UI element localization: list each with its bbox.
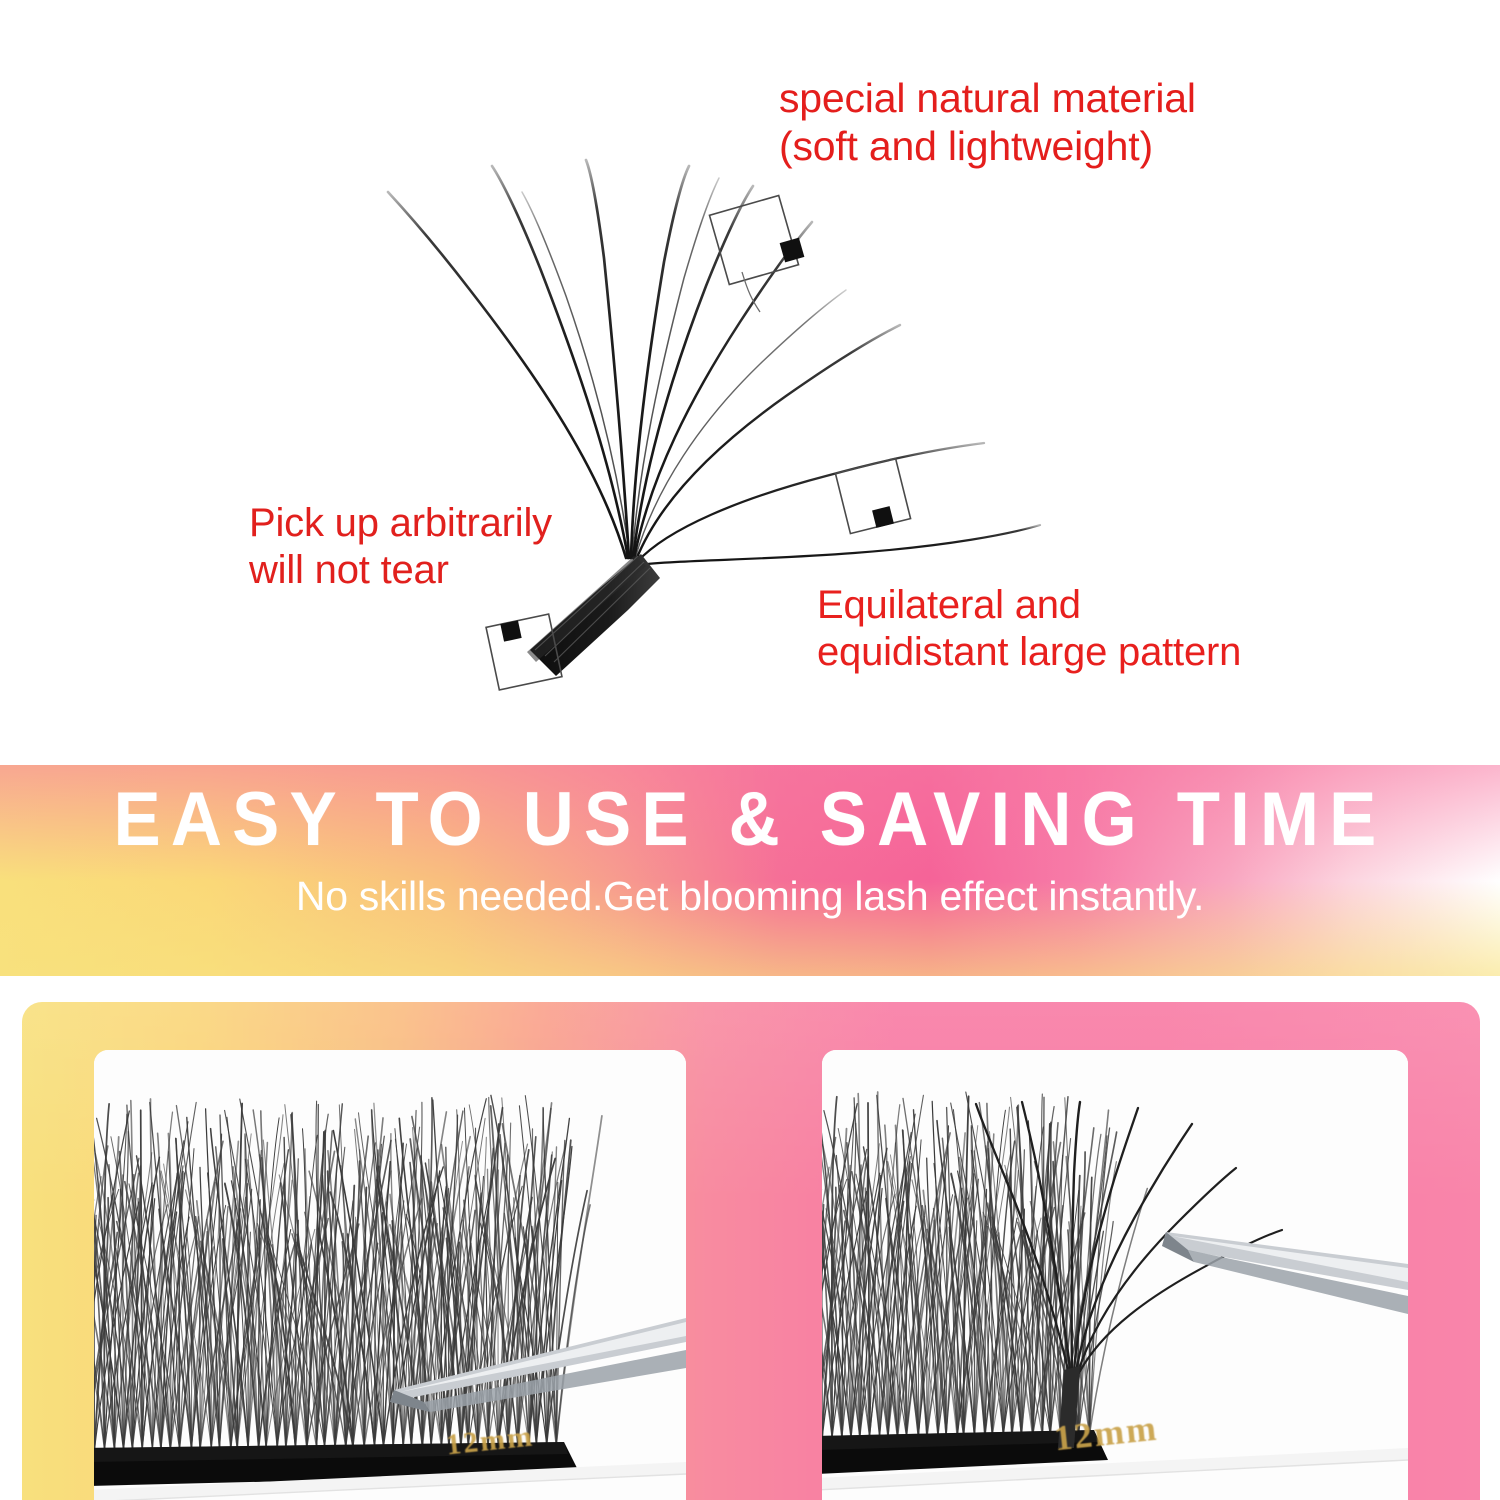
callout-special-natural-material: special natural material (soft and light… [779,74,1196,171]
photo-panel-fan-pickup: 12mm [822,1050,1408,1500]
banner-headline: EASY TO USE & SAVING TIME [53,779,1448,861]
lash-tray-photo [94,1050,686,1500]
banner-subheadline: No skills needed.Get blooming lash effec… [0,873,1500,920]
feature-banner: EASY TO USE & SAVING TIME No skills need… [0,765,1500,976]
lash-fan-diagram [0,0,1500,765]
photo-panel-lash-tray: 12mm [94,1050,686,1500]
hero-section: special natural material (soft and light… [0,0,1500,765]
photo-gallery-frame: 12mm [22,1002,1480,1500]
callout-equilateral-equidistant: Equilateral and equidistant large patter… [817,582,1241,676]
callout-pick-up-arbitrarily: Pick up arbitrarily will not tear [249,500,552,594]
